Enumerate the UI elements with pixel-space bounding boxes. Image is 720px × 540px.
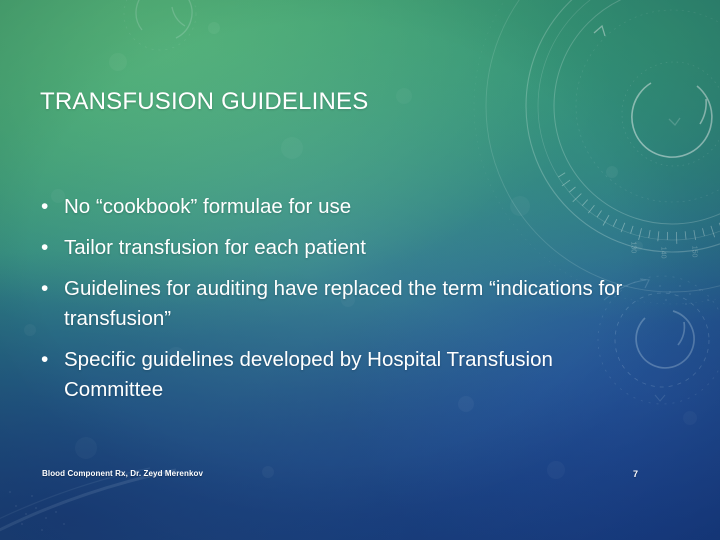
broken-ring-upper-left [124,0,196,50]
bullet-marker-icon: • [38,274,64,304]
bullet-text: No “cookbook” formulae for use [64,192,638,222]
bullet-text: Specific guidelines developed by Hospita… [64,345,638,405]
bullet-marker-icon: • [38,192,64,222]
slide-title: TRANSFUSION GUIDELINES [40,88,368,116]
bullet-marker-icon: • [38,233,64,263]
bullet-text: Tailor transfusion for each patient [64,233,638,263]
bullet-item: • Specific guidelines developed by Hospi… [38,345,638,405]
bullet-item: • Guidelines for auditing have replaced … [38,274,638,334]
slide-page-number: 7 [633,469,638,479]
presentation-slide: 190 180 170 160 150 140 130 [0,0,720,540]
dial-arrow-marker [594,26,680,125]
slide-footer-note: Blood Component Rx, Dr. Zeyd Merenkov [42,469,203,478]
svg-text:150: 150 [690,246,697,258]
bullet-list: • No “cookbook” formulae for use • Tailo… [38,192,638,416]
bullet-item: • Tailor transfusion for each patient [38,233,638,263]
bullet-text: Guidelines for auditing have replaced th… [64,274,638,334]
svg-text:140: 140 [660,247,667,259]
compass-tick-labels: 190 180 170 160 150 140 130 [629,182,720,258]
bullet-marker-icon: • [38,345,64,375]
bullet-item: • No “cookbook” formulae for use [38,192,638,222]
broken-ring-upper-right [622,62,720,166]
light-streak [0,468,176,540]
